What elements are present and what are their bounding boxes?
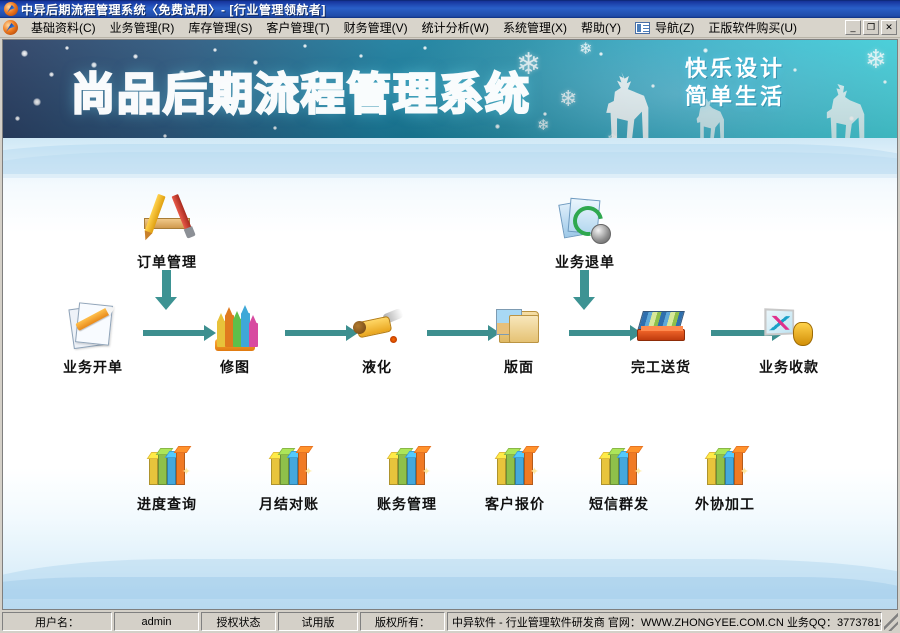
workflow-node-customer-quotation[interactable]: ✦ 客户报价 [461,438,569,514]
slogan-line-1: 快乐设计 [685,56,785,84]
workflow-node-order-management[interactable]: 订单管理 [113,196,221,272]
workflow-node-label: 版面 [465,357,573,377]
workflow-node-label: 外协加工 [671,494,779,514]
color-pencils-icon [209,301,261,351]
menu-item-finance-management[interactable]: 财务管理(V) [337,17,415,38]
snow-dot [15,116,20,121]
arrow-down-to-billing [162,270,171,298]
menu-item-buy-license[interactable]: 正版软件购买(U) [701,17,804,38]
workflow-node-photo-retouch[interactable]: 修图 [181,301,289,377]
snowflake-icon: ❄ [537,118,550,133]
snow-dot [883,80,887,84]
status-bar: 用户名： admin 授权状态 试用版 版权所有： 中异软件 - 行业管理软件研… [2,612,898,631]
books-icon: ✦ [699,438,751,488]
banner-slogan: 快乐设计 简单生活 [685,56,785,112]
restore-button[interactable]: ❐ [863,20,879,35]
app-logo-icon [4,2,18,16]
workflow-node-return-order[interactable]: 业务退单 [531,196,639,272]
snow-dot [303,44,307,48]
workflow-node-label: 月结对账 [235,494,343,514]
snow-dot [49,72,54,77]
snow-dot [543,112,547,116]
books-icon: ✦ [141,438,193,488]
workflow-node-sms-broadcast[interactable]: ✦ 短信群发 [565,438,673,514]
workflow-node-label: 账务管理 [353,494,461,514]
workflow-node-label: 业务开单 [39,357,147,377]
document-pen-icon [67,301,119,351]
decorative-wave [3,559,897,599]
menu-item-basic-data[interactable]: 基础资料(C) [24,17,103,38]
snowflake-icon: ❄ [865,46,887,72]
title-bar: 中异后期流程管理系统〈免费试用〉- [行业管理领航者] [0,0,900,18]
menu-item-navigation[interactable]: 导航(Z) [628,17,701,38]
books-icon: ✦ [381,438,433,488]
delivery-stack-icon [635,301,687,351]
snow-dot [703,48,708,53]
books-icon: ✦ [263,438,315,488]
menu-item-label: 导航(Z) [655,19,694,36]
window-title: 中异后期流程管理系统〈免费试用〉- [行业管理领航者] [21,1,326,18]
deer-silhouette [603,72,657,138]
status-copyright-value: 中异软件 - 行业管理软件研发商 官网：WWW.ZHONGYEE.COM.CN … [447,612,882,631]
client-area: ❄ ❄ ❄ ❄ ❄ ❄ 尚品后期流程管理系统 快乐设计 简单生活 [2,39,898,610]
menu-item-label: 正版软件购买(U) [708,19,797,36]
menu-item-label: 帮助(Y) [581,19,621,36]
menu-item-help[interactable]: 帮助(Y) [574,17,628,38]
snow-dot [495,124,500,129]
menu-item-label: 系统管理(X) [503,19,567,36]
status-auth-value: 试用版 [278,612,358,631]
status-user-label: 用户名： [2,612,112,631]
snow-dot [65,46,69,50]
menu-item-label: 客户管理(T) [266,19,329,36]
resize-grip[interactable] [884,612,898,631]
decorative-wave [3,152,897,178]
status-copyright-label: 版权所有： [360,612,445,631]
menu-item-label: 统计分析(W) [422,19,489,36]
menu-item-label: 库存管理(S) [188,19,252,36]
snow-dot [599,52,603,56]
menu-item-inventory-management[interactable]: 库存管理(S) [181,17,259,38]
workflow-node-account-management[interactable]: ✦ 账务管理 [353,438,461,514]
workflow-node-delivery[interactable]: 完工送货 [607,301,715,377]
workflow-node-label: 修图 [181,357,289,377]
decorative-wave [3,144,897,174]
workflow-node-label: 客户报价 [461,494,569,514]
status-auth-label: 授权状态 [201,612,276,631]
deer-silhouette [823,84,871,138]
workflow-node-label: 订单管理 [113,252,221,272]
snow-dot [273,126,277,130]
workflow-node-outsourcing[interactable]: ✦ 外协加工 [671,438,779,514]
menu-item-system-management[interactable]: 系统管理(X) [496,17,574,38]
slogan-line-2: 简单生活 [685,84,785,112]
liquify-tool-icon [351,301,403,351]
layout-folder-icon [493,301,545,351]
workflow-node-label: 完工送货 [607,357,715,377]
workflow-node-label: 业务收款 [735,357,843,377]
menu-bar: 基础资料(C) 业务管理(R) 库存管理(S) 客户管理(T) 财务管理(V) … [0,18,900,38]
books-icon: ✦ [593,438,645,488]
banner: ❄ ❄ ❄ ❄ ❄ ❄ 尚品后期流程管理系统 快乐设计 简单生活 [3,40,897,138]
snow-dot [33,98,41,106]
workflow-node-layout[interactable]: 版面 [465,301,573,377]
snowflake-icon: ❄ [559,88,577,110]
workflow-node-monthly-reconciliation[interactable]: ✦ 月结对账 [235,438,343,514]
menu-item-label: 财务管理(V) [344,19,408,36]
workflow-node-label: 液化 [323,357,431,377]
status-user-value: admin [114,612,199,631]
decorative-wave [3,577,897,609]
workflow-node-progress-query[interactable]: ✦ 进度查询 [113,438,221,514]
menu-item-label: 基础资料(C) [31,19,96,36]
ruler-pencil-brush-icon [141,196,193,246]
workflow-canvas: 订单管理 业务退单 业务开单 [3,138,897,609]
snow-dot [793,68,797,72]
payment-chart-money-icon [763,301,815,351]
snow-dot [849,116,854,121]
navigation-icon [635,22,650,34]
window-controls: _ ❐ ✕ [845,20,897,35]
snow-dot [21,50,28,57]
menu-item-customer-management[interactable]: 客户管理(T) [259,17,336,38]
workflow-node-label: 业务退单 [531,252,639,272]
snow-dot [213,48,217,52]
arrow-down-to-layout [580,270,589,298]
menu-item-business-management[interactable]: 业务管理(R) [103,17,182,38]
close-button[interactable]: ✕ [881,20,897,35]
snowflake-icon: ❄ [579,42,592,58]
workflow-node-liquify[interactable]: 液化 [323,301,431,377]
books-icon: ✦ [489,438,541,488]
menu-app-logo-icon [3,20,18,35]
application-window: 中异后期流程管理系统〈免费试用〉- [行业管理领航者] 基础资料(C) 业务管理… [0,0,900,633]
workflow-node-business-billing[interactable]: 业务开单 [39,301,147,377]
workflow-node-payment[interactable]: 业务收款 [735,301,843,377]
snow-dot [651,84,655,88]
workflow-node-label: 短信群发 [565,494,673,514]
snow-dot [423,46,427,50]
return-order-icon [559,196,611,246]
minimize-button[interactable]: _ [845,20,861,35]
menu-item-label: 业务管理(R) [110,19,175,36]
banner-title: 尚品后期流程管理系统 [71,58,531,122]
workflow-node-label: 进度查询 [113,494,221,514]
menu-item-statistics-analysis[interactable]: 统计分析(W) [415,17,496,38]
